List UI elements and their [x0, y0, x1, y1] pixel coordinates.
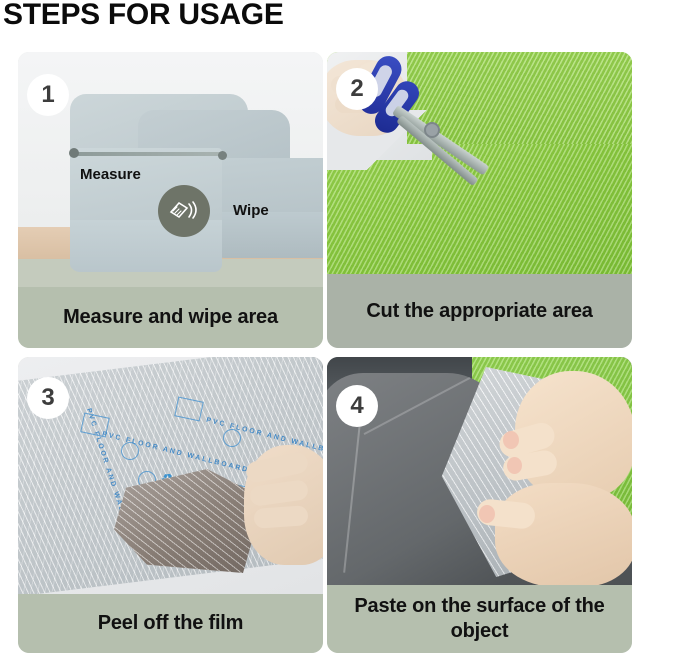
page-title: STEPS FOR USAGE: [3, 0, 284, 36]
step-number-badge-3: 3: [27, 377, 69, 419]
step-card-4[interactable]: 4 Paste on the surface of the object: [327, 357, 632, 653]
measure-point-right-icon: [218, 151, 227, 160]
wipe-label: Wipe: [233, 202, 269, 219]
step-1-caption: Measure and wipe area: [47, 305, 294, 330]
measuring-tape-line: [73, 152, 225, 156]
fingernail-3: [479, 505, 495, 523]
print-circle-icon-1: [121, 442, 139, 460]
step-number-badge-2: 2: [336, 68, 378, 110]
step-number-badge-4: 4: [336, 385, 378, 427]
step-2-caption-band: Cut the appropriate area: [327, 274, 632, 348]
step-card-3[interactable]: PVC FLOOR AND WALLBOARD PVC FLOOR AND WA…: [18, 357, 323, 653]
fingernail-2: [507, 457, 522, 474]
step-4-caption-band: Paste on the surface of the object: [327, 585, 632, 653]
steps-grid: Measure Wipe 1 Measure and wipe area: [18, 52, 632, 653]
measure-point-left-icon: [69, 148, 79, 158]
fingernail-1: [503, 431, 519, 449]
measure-label: Measure: [80, 166, 141, 183]
step-1-caption-band: Measure and wipe area: [18, 287, 323, 348]
scissors-pivot-icon: [424, 122, 440, 138]
hand-lower: [495, 483, 632, 585]
step-3-caption: Peel off the film: [82, 611, 260, 636]
print-circle-icon-3: [223, 429, 241, 447]
step-2-caption: Cut the appropriate area: [350, 299, 608, 324]
finger-3: [253, 505, 308, 529]
step-card-2[interactable]: 2 Cut the appropriate area: [327, 52, 632, 348]
step-4-caption: Paste on the surface of the object: [327, 594, 632, 644]
wipe-cloth-icon: [158, 185, 210, 237]
step-card-1[interactable]: Measure Wipe 1 Measure and wipe area: [18, 52, 323, 348]
step-number-badge-1: 1: [27, 74, 69, 116]
step-3-caption-band: Peel off the film: [18, 594, 323, 653]
